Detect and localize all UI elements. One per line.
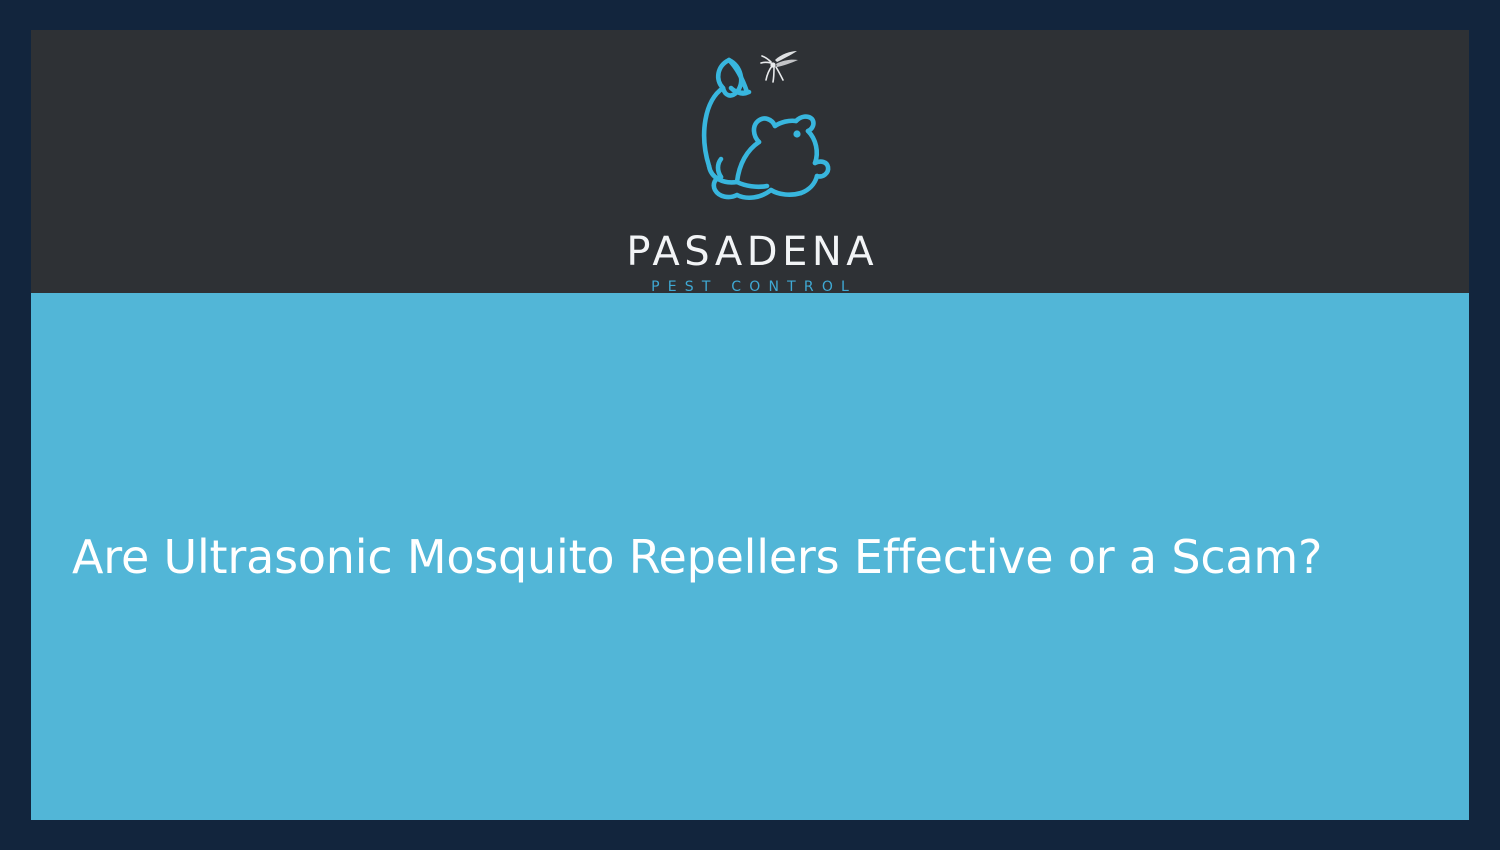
brand-name: PASADENA [622,232,878,272]
logo-header-panel: PASADENA PEST CONTROL [31,30,1469,293]
rodent-line-art-logo [679,38,839,238]
slide-canvas: PASADENA PEST CONTROL Are Ultrasonic Mos… [0,0,1500,850]
brand-logo: PASADENA PEST CONTROL [620,38,880,295]
mosquito-icon [761,51,798,82]
hero-panel: Are Ultrasonic Mosquito Repellers Effect… [31,293,1469,820]
page-title: Are Ultrasonic Mosquito Repellers Effect… [72,293,1442,820]
